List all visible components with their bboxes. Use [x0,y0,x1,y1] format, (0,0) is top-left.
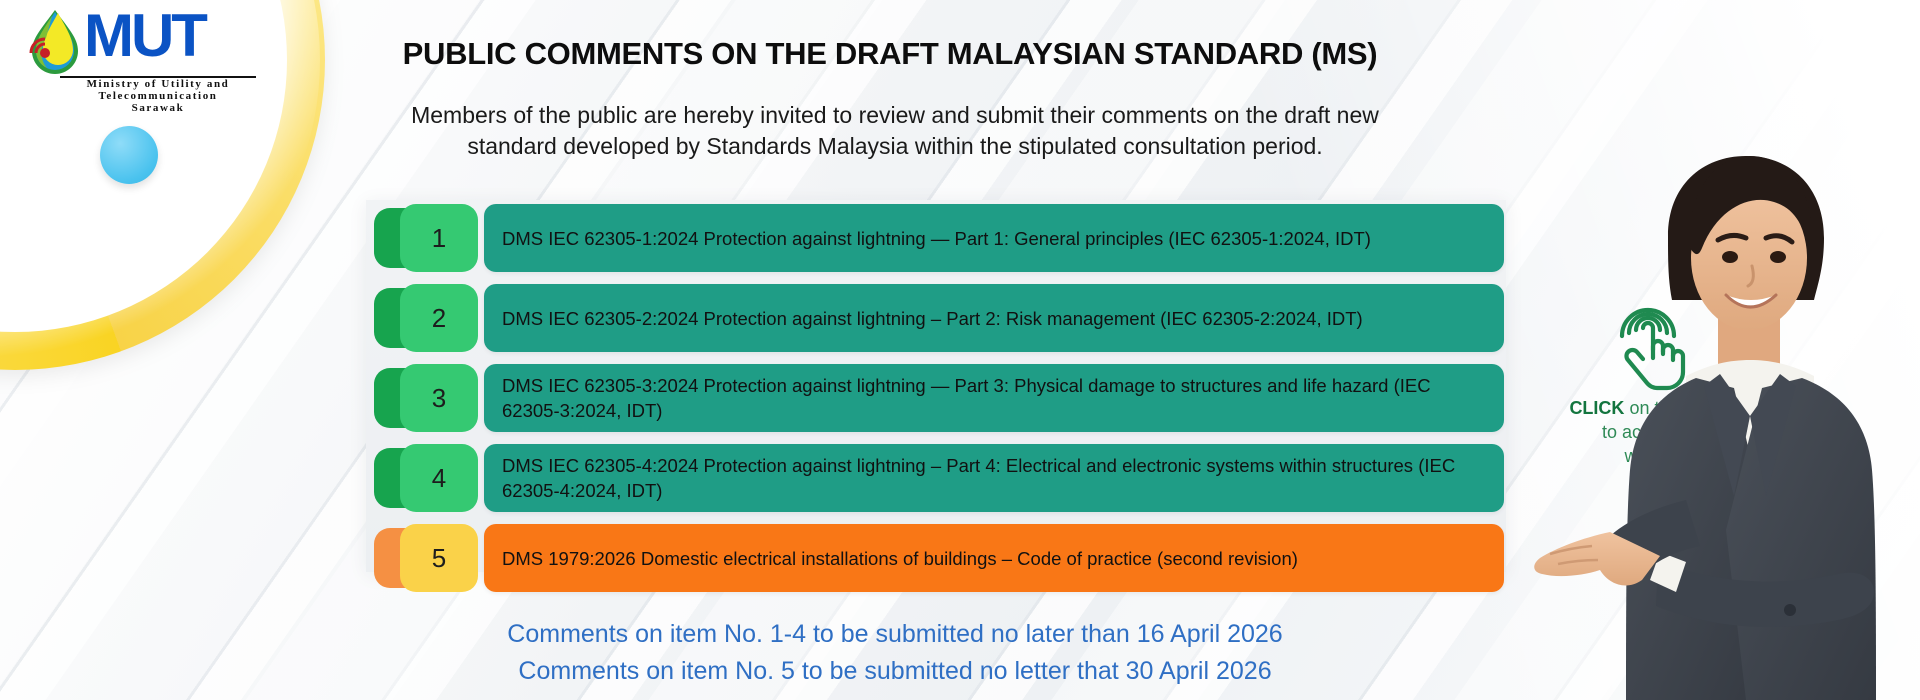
list-item[interactable]: 3 DMS IEC 62305-3:2024 Protection agains… [374,364,1504,432]
page-subtitle: Members of the public are hereby invited… [300,100,1490,162]
standards-list: 1 DMS IEC 62305-1:2024 Protection agains… [374,204,1504,604]
list-item-text[interactable]: DMS 1979:2026 Domestic electrical instal… [484,524,1504,592]
page-subtitle-line2: standard developed by Standards Malaysia… [300,131,1490,162]
badge-number: 3 [400,364,478,432]
deadline-notes: Comments on item No. 1-4 to be submitted… [300,616,1490,690]
list-item-text[interactable]: DMS IEC 62305-4:2024 Protection against … [484,444,1504,512]
list-item-text[interactable]: DMS IEC 62305-3:2024 Protection against … [484,364,1504,432]
list-item[interactable]: 4 DMS IEC 62305-4:2024 Protection agains… [374,444,1504,512]
logo-subtitle: Ministry of Utility and Telecommunicatio… [58,78,258,114]
badge-number: 4 [400,444,478,512]
public-comments-banner: MUT Ministry of Utility and Telecommunic… [0,0,1920,700]
logo-subtitle-line3: Sarawak [58,102,258,114]
list-item-badge: 3 [374,364,478,432]
logo-subtitle-line1: Ministry of Utility and [58,78,258,90]
badge-number: 2 [400,284,478,352]
water-drop-flame-signal-icon [28,8,82,74]
list-item[interactable]: 2 DMS IEC 62305-2:2024 Protection agains… [374,284,1504,352]
list-item[interactable]: 5 DMS 1979:2026 Domestic electrical inst… [374,524,1504,592]
badge-number: 5 [400,524,478,592]
list-item-text[interactable]: DMS IEC 62305-1:2024 Protection against … [484,204,1504,272]
logo-subtitle-line2: Telecommunication [58,90,258,102]
list-item-text[interactable]: DMS IEC 62305-2:2024 Protection against … [484,284,1504,352]
page-subtitle-line1: Members of the public are hereby invited… [300,100,1490,131]
ministry-logo: MUT Ministry of Utility and Telecommunic… [28,8,258,108]
badge-number: 1 [400,204,478,272]
list-item-badge: 4 [374,444,478,512]
deadline-note-line1: Comments on item No. 1-4 to be submitted… [300,616,1490,653]
deadline-note-line2: Comments on item No. 5 to be submitted n… [300,653,1490,690]
blue-circle-decoration [100,126,158,184]
businesswoman-presenting-photo [1490,140,1920,700]
list-item-badge: 2 [374,284,478,352]
list-item-badge: 5 [374,524,478,592]
logo-acronym: MUT [84,8,205,64]
page-title: PUBLIC COMMENTS ON THE DRAFT MALAYSIAN S… [300,36,1480,72]
list-item[interactable]: 1 DMS IEC 62305-1:2024 Protection agains… [374,204,1504,272]
list-item-badge: 1 [374,204,478,272]
